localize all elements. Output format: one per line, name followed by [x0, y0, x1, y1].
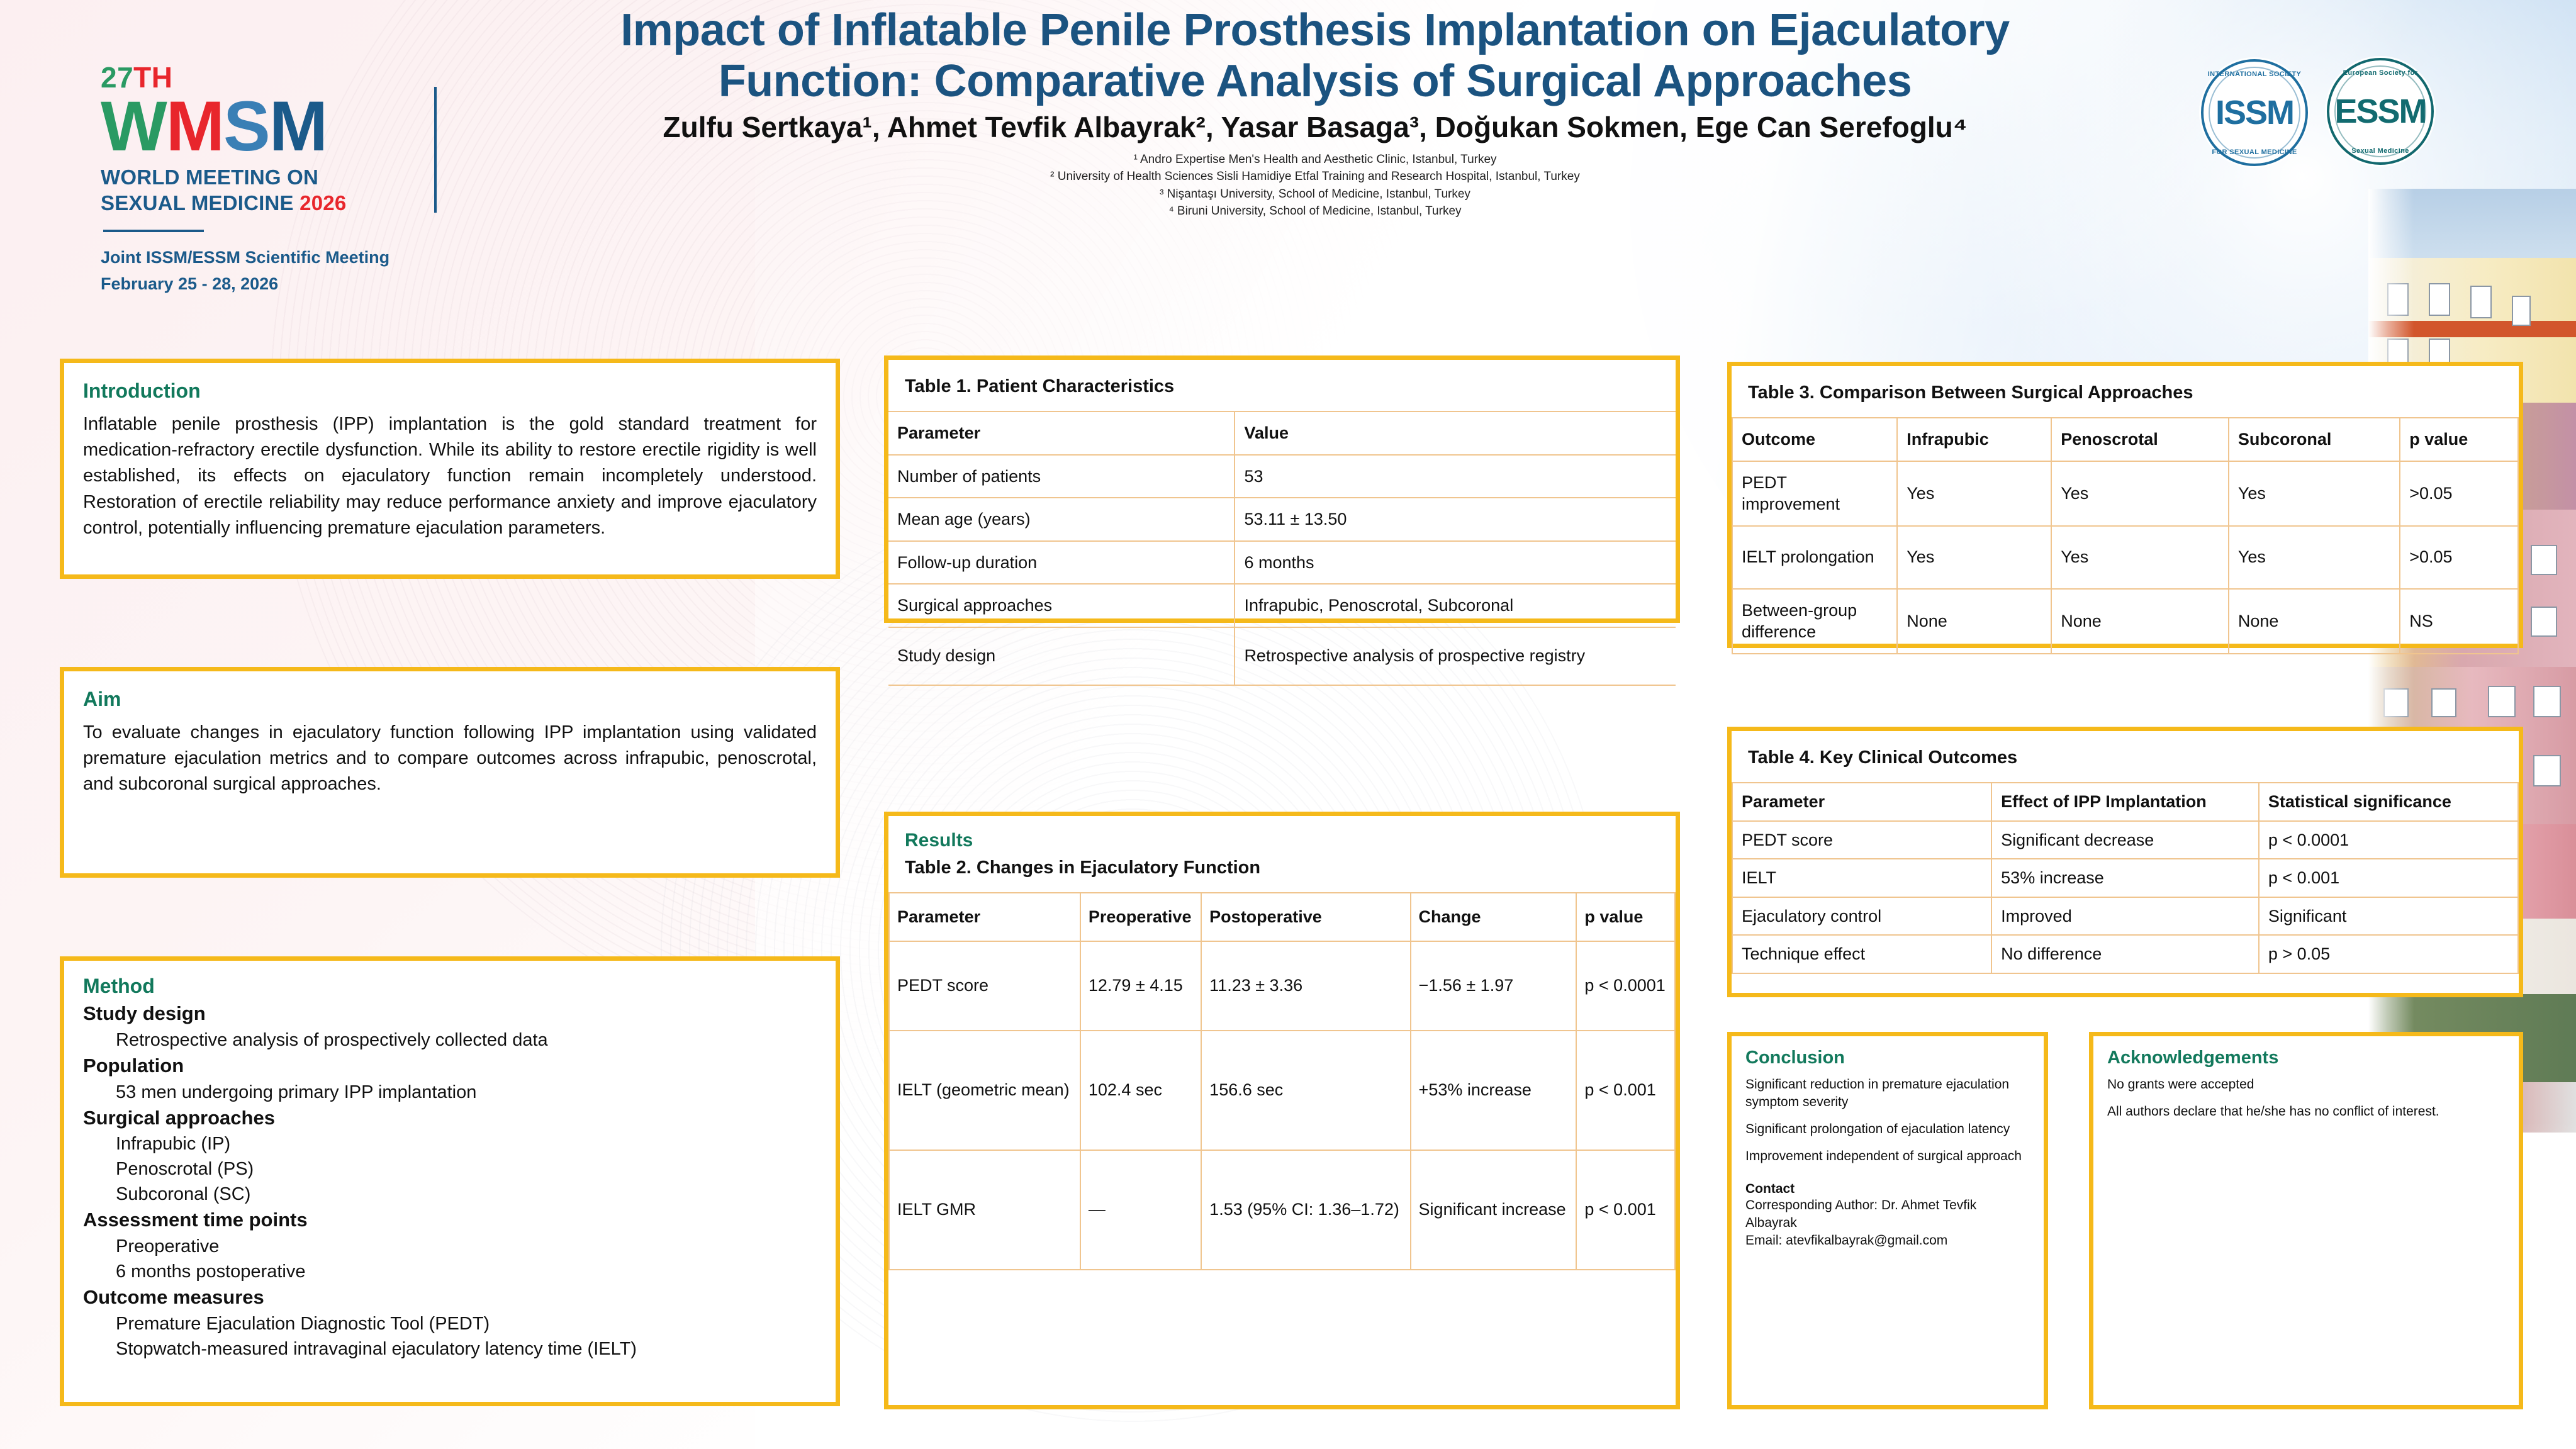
essm-logo: European Society for ESSM Sexual Medicin… — [2327, 58, 2434, 165]
method-group-item: Subcoronal (SC) — [83, 1182, 817, 1207]
table4-cell: PEDT score — [1732, 821, 1991, 859]
table4-cell: Ejaculatory control — [1732, 897, 1991, 936]
introduction-heading: Introduction — [83, 379, 817, 403]
table2-col-change: Change — [1411, 893, 1577, 941]
method-group-label: Outcome measures — [83, 1284, 817, 1311]
table-row: IELT 53% increase p < 0.001 — [1732, 859, 2518, 897]
table1-cell: Study design — [888, 627, 1235, 685]
table1-cell: Mean age (years) — [888, 498, 1235, 541]
table4-cell: 53% increase — [1991, 859, 2259, 897]
table3-cell: IELT prolongation — [1732, 526, 1897, 589]
logo-letter-w: W — [101, 87, 166, 165]
table2-cell: −1.56 ± 1.97 — [1411, 941, 1577, 1031]
logo-subtitle-line2: SEXUAL MEDICINE — [101, 191, 294, 215]
method-group-item: Preoperative — [83, 1234, 817, 1259]
table3: Outcome Infrapubic Penoscrotal Subcorona… — [1732, 417, 2519, 654]
table4-cell: IELT — [1732, 859, 1991, 897]
table3-title: Table 3. Comparison Between Surgical App… — [1732, 366, 2519, 417]
table4-cell: Improved — [1991, 897, 2259, 936]
table2-col-pvalue: p value — [1576, 893, 1675, 941]
logo-year: 2026 — [300, 191, 346, 215]
table-row: Surgical approaches Infrapubic, Penoscro… — [888, 584, 1676, 627]
logo-letter-m2: M — [269, 87, 327, 165]
logo-meeting-info: Joint ISSM/ESSM Scientific Meeting Febru… — [101, 245, 503, 298]
table3-col-penoscrotal: Penoscrotal — [2051, 418, 2229, 461]
logo-acronym: WMSM — [101, 93, 503, 160]
essm-logo-bottom-text: Sexual Medicine — [2329, 147, 2431, 155]
table2-cell: 1.53 (95% CI: 1.36–1.72) — [1201, 1150, 1410, 1270]
table1-cell: 53 — [1235, 455, 1676, 498]
table-row: Study design Retrospective analysis of p… — [888, 627, 1676, 685]
table-row: Follow-up duration 6 months — [888, 541, 1676, 585]
table4-col-effect: Effect of IPP Implantation — [1991, 783, 2259, 821]
table3-cell: None — [1897, 589, 2051, 654]
conclusion-heading: Conclusion — [1745, 1048, 2030, 1068]
table-header-row: Parameter Preoperative Postoperative Cha… — [889, 893, 1675, 941]
table2-cell: Significant increase — [1411, 1150, 1577, 1270]
issm-logo-top-text: INTERNATIONAL SOCIETY — [2204, 70, 2305, 78]
method-group-item: Retrospective analysis of prospectively … — [83, 1027, 817, 1053]
conclusion-panel: Conclusion Significant reduction in prem… — [1727, 1032, 2048, 1409]
acknowledgements-line: All authors declare that he/she has no c… — [2107, 1103, 2505, 1121]
table-row: Technique effect No difference p > 0.05 — [1732, 935, 2518, 973]
table2-cell: — — [1080, 1150, 1201, 1270]
table3-cell: >0.05 — [2400, 461, 2518, 526]
table2-col-preoperative: Preoperative — [1080, 893, 1201, 941]
society-logos: INTERNATIONAL SOCIETY ISSM FOR SEXUAL ME… — [2190, 55, 2542, 175]
table2-cell: p < 0.0001 — [1576, 941, 1675, 1031]
affiliation-item: ⁴ Biruni University, School of Medicine,… — [554, 203, 2076, 220]
table2: Parameter Preoperative Postoperative Cha… — [888, 892, 1676, 1270]
table2-cell: 102.4 sec — [1080, 1031, 1201, 1150]
acknowledgements-heading: Acknowledgements — [2107, 1048, 2505, 1068]
aim-text: To evaluate changes in ejaculatory funct… — [83, 720, 817, 798]
table3-cell: Yes — [2051, 526, 2229, 589]
table1-col-parameter: Parameter — [888, 411, 1235, 455]
table-header-row: Outcome Infrapubic Penoscrotal Subcorona… — [1732, 418, 2518, 461]
introduction-panel: Introduction Inflatable penile prosthesi… — [60, 359, 840, 579]
table2-cell: +53% increase — [1411, 1031, 1577, 1150]
table4-cell: Significant — [2259, 897, 2518, 936]
table-row: Mean age (years) 53.11 ± 13.50 — [888, 498, 1676, 541]
logo-letter-m1: M — [166, 87, 223, 165]
logo-meeting-dates: February 25 - 28, 2026 — [101, 271, 503, 298]
essm-logo-acronym: ESSM — [2334, 92, 2426, 131]
table2-title: Table 2. Changes in Ejaculatory Function — [888, 855, 1676, 892]
table3-cell: None — [2229, 589, 2400, 654]
table-row: IELT prolongation Yes Yes Yes >0.05 — [1732, 526, 2518, 589]
conclusion-point: Significant prolongation of ejaculation … — [1745, 1121, 2030, 1138]
acknowledgements-line: No grants were accepted — [2107, 1076, 2505, 1094]
table1-cell: 6 months — [1235, 541, 1676, 585]
introduction-text: Inflatable penile prosthesis (IPP) impla… — [83, 411, 817, 541]
table-row: Ejaculatory control Improved Significant — [1732, 897, 2518, 936]
table1-panel: Table 1. Patient Characteristics Paramet… — [884, 355, 1680, 623]
method-group-label: Study design — [83, 1000, 817, 1027]
table3-cell: NS — [2400, 589, 2518, 654]
method-group-item: Infrapubic (IP) — [83, 1131, 817, 1156]
contact-email[interactable]: Email: atevfikalbayrak@gmail.com — [1745, 1232, 2030, 1250]
table2-cell: PEDT score — [889, 941, 1080, 1031]
logo-divider-rule — [103, 230, 204, 232]
method-group-label: Surgical approaches — [83, 1105, 817, 1132]
table-row: PEDT score 12.79 ± 4.15 11.23 ± 3.36 −1.… — [889, 941, 1675, 1031]
table2-cell: p < 0.001 — [1576, 1150, 1675, 1270]
contact-author: Corresponding Author: Dr. Ahmet Tevfik A… — [1745, 1197, 2030, 1233]
table2-cell: 11.23 ± 3.36 — [1201, 941, 1410, 1031]
header-vertical-divider — [434, 87, 437, 213]
table-row: PEDT improvement Yes Yes Yes >0.05 — [1732, 461, 2518, 526]
table3-cell: Between-group difference — [1732, 589, 1897, 654]
method-panel: Method Study design Retrospective analys… — [60, 956, 840, 1406]
table3-cell: Yes — [1897, 461, 2051, 526]
table2-cell: IELT GMR — [889, 1150, 1080, 1270]
contact-heading: Contact — [1745, 1182, 2030, 1197]
table-row: Between-group difference None None None … — [1732, 589, 2518, 654]
table4-cell: p < 0.001 — [2259, 859, 2518, 897]
table3-cell: Yes — [2051, 461, 2229, 526]
table-header-row: Parameter Value — [888, 411, 1676, 455]
table2-cell: 156.6 sec — [1201, 1031, 1410, 1150]
poster-body: Introduction Inflatable penile prosthesi… — [0, 352, 2576, 1449]
table-row: Number of patients 53 — [888, 455, 1676, 498]
issm-logo-bottom-text: FOR SEXUAL MEDICINE — [2204, 148, 2305, 156]
method-group-item: Stopwatch-measured intravaginal ejaculat… — [83, 1336, 817, 1362]
method-heading: Method — [83, 975, 817, 998]
logo-letter-s: S — [223, 87, 269, 165]
logo-subtitle-line1: WORLD MEETING ON — [101, 165, 503, 190]
conclusion-point: Significant reduction in premature ejacu… — [1745, 1076, 2030, 1111]
logo-subtitle: WORLD MEETING ON SEXUAL MEDICINE 2026 — [101, 165, 503, 216]
table1-cell: Follow-up duration — [888, 541, 1235, 585]
issm-logo: INTERNATIONAL SOCIETY ISSM FOR SEXUAL ME… — [2201, 59, 2308, 166]
conclusion-point: Improvement independent of surgical appr… — [1745, 1148, 2030, 1165]
acknowledgements-panel: Acknowledgements No grants were accepted… — [2089, 1032, 2523, 1409]
results-heading: Results — [888, 816, 1676, 855]
table1-title: Table 1. Patient Characteristics — [888, 360, 1676, 411]
table4-col-parameter: Parameter — [1732, 783, 1991, 821]
table2-col-parameter: Parameter — [889, 893, 1080, 941]
table-row: IELT GMR — 1.53 (95% CI: 1.36–1.72) Sign… — [889, 1150, 1675, 1270]
table2-cell: p < 0.001 — [1576, 1031, 1675, 1150]
aim-heading: Aim — [83, 688, 817, 711]
table4-title: Table 4. Key Clinical Outcomes — [1732, 731, 2519, 782]
table3-cell: None — [2051, 589, 2229, 654]
table2-cell: IELT (geometric mean) — [889, 1031, 1080, 1150]
table1: Parameter Value Number of patients 53 Me… — [888, 411, 1676, 686]
table1-cell: 53.11 ± 13.50 — [1235, 498, 1676, 541]
table-row: IELT (geometric mean) 102.4 sec 156.6 se… — [889, 1031, 1675, 1150]
table3-col-infrapubic: Infrapubic — [1897, 418, 2051, 461]
poster-header: 27TH WMSM WORLD MEETING ON SEXUAL MEDICI… — [0, 0, 2576, 352]
results-panel: Results Table 2. Changes in Ejaculatory … — [884, 812, 1680, 1409]
table3-cell: PEDT improvement — [1732, 461, 1897, 526]
table3-cell: Yes — [2229, 461, 2400, 526]
method-group-label: Assessment time points — [83, 1207, 817, 1234]
table4-cell: Significant decrease — [1991, 821, 2259, 859]
table4-panel: Table 4. Key Clinical Outcomes Parameter… — [1727, 727, 2523, 997]
table4-cell: p < 0.0001 — [2259, 821, 2518, 859]
table3-cell: Yes — [2229, 526, 2400, 589]
affiliation-item: ¹ Andro Expertise Men's Health and Aesth… — [554, 151, 2076, 169]
table-header-row: Parameter Effect of IPP Implantation Sta… — [1732, 783, 2518, 821]
table4-cell: No difference — [1991, 935, 2259, 973]
author-list: Zulfu Sertkaya¹, Ahmet Tevfik Albayrak²,… — [554, 110, 2076, 144]
title-block: Impact of Inflatable Penile Prosthesis I… — [554, 5, 2076, 220]
method-group-item: 53 men undergoing primary IPP implantati… — [83, 1080, 817, 1105]
table1-cell: Number of patients — [888, 455, 1235, 498]
affiliation-item: ² University of Health Sciences Sisli Ha… — [554, 168, 2076, 186]
wmsm-conference-logo: 27TH WMSM WORLD MEETING ON SEXUAL MEDICI… — [101, 63, 503, 298]
method-group-item: 6 months postoperative — [83, 1259, 817, 1284]
aim-panel: Aim To evaluate changes in ejaculatory f… — [60, 667, 840, 878]
table3-panel: Table 3. Comparison Between Surgical App… — [1727, 362, 2523, 648]
table3-cell: Yes — [1897, 526, 2051, 589]
table2-col-postoperative: Postoperative — [1201, 893, 1410, 941]
table1-col-value: Value — [1235, 411, 1676, 455]
table4-cell: p > 0.05 — [2259, 935, 2518, 973]
table4: Parameter Effect of IPP Implantation Sta… — [1732, 782, 2519, 974]
essm-logo-top-text: European Society for — [2329, 69, 2431, 77]
affiliation-item: ³ Nişantaşı University, School of Medici… — [554, 186, 2076, 203]
issm-logo-acronym: ISSM — [2215, 93, 2293, 132]
table3-col-outcome: Outcome — [1732, 418, 1897, 461]
table2-cell: 12.79 ± 4.15 — [1080, 941, 1201, 1031]
method-group-label: Population — [83, 1053, 817, 1080]
method-group-item: Penoscrotal (PS) — [83, 1156, 817, 1182]
table3-col-pvalue: p value — [2400, 418, 2518, 461]
page-title: Impact of Inflatable Penile Prosthesis I… — [554, 5, 2076, 106]
table1-cell: Surgical approaches — [888, 584, 1235, 627]
table3-cell: >0.05 — [2400, 526, 2518, 589]
table1-cell: Retrospective analysis of prospective re… — [1235, 627, 1676, 685]
table1-cell: Infrapubic, Penoscrotal, Subcoronal — [1235, 584, 1676, 627]
table4-col-significance: Statistical significance — [2259, 783, 2518, 821]
table-row: PEDT score Significant decrease p < 0.00… — [1732, 821, 2518, 859]
table4-cell: Technique effect — [1732, 935, 1991, 973]
logo-meeting-name: Joint ISSM/ESSM Scientific Meeting — [101, 245, 503, 271]
affiliation-list: ¹ Andro Expertise Men's Health and Aesth… — [554, 151, 2076, 220]
table3-col-subcoronal: Subcoronal — [2229, 418, 2400, 461]
method-group-item: Premature Ejaculation Diagnostic Tool (P… — [83, 1311, 817, 1336]
